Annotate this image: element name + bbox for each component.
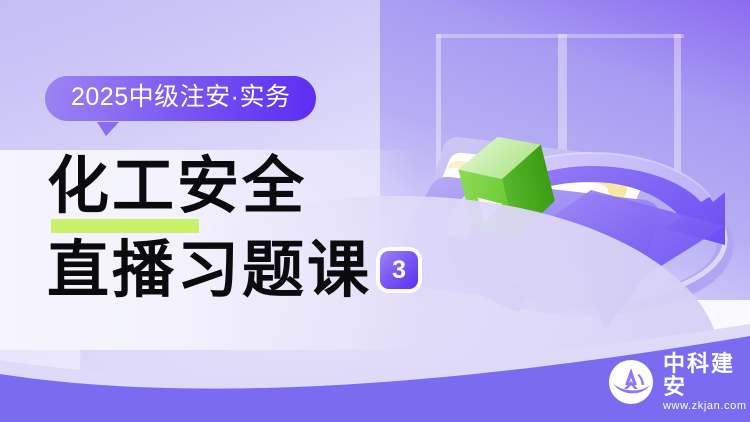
headline-line-1-text: 化工安全	[47, 149, 307, 222]
course-banner: 2025中级注安·实务 化工安全 直播习题课 3 中科建安 www.zkjan.…	[0, 0, 750, 422]
brand-logo[interactable]: 中科建安 www.zkjan.com	[608, 352, 750, 412]
course-badge-tail	[97, 122, 119, 136]
course-badge-label: 2025中级注安·实务	[71, 83, 290, 111]
episode-number-badge: 3	[380, 251, 418, 289]
headline-line-2-text: 直播习题课	[47, 239, 372, 301]
brand-logo-text: 中科建安 www.zkjan.com	[663, 352, 750, 412]
headline-line-2: 直播习题课 3	[47, 239, 418, 301]
headline-line-1: 化工安全	[47, 155, 418, 217]
brand-name: 中科建安	[663, 352, 750, 398]
zkjan-emblem-icon	[608, 359, 654, 405]
course-badge: 2025中级注安·实务	[45, 76, 316, 121]
brand-url: www.zkjan.com	[663, 400, 750, 412]
headline-block: 化工安全 直播习题课 3	[47, 155, 418, 301]
course-badge-pill: 2025中级注安·实务	[45, 76, 316, 121]
